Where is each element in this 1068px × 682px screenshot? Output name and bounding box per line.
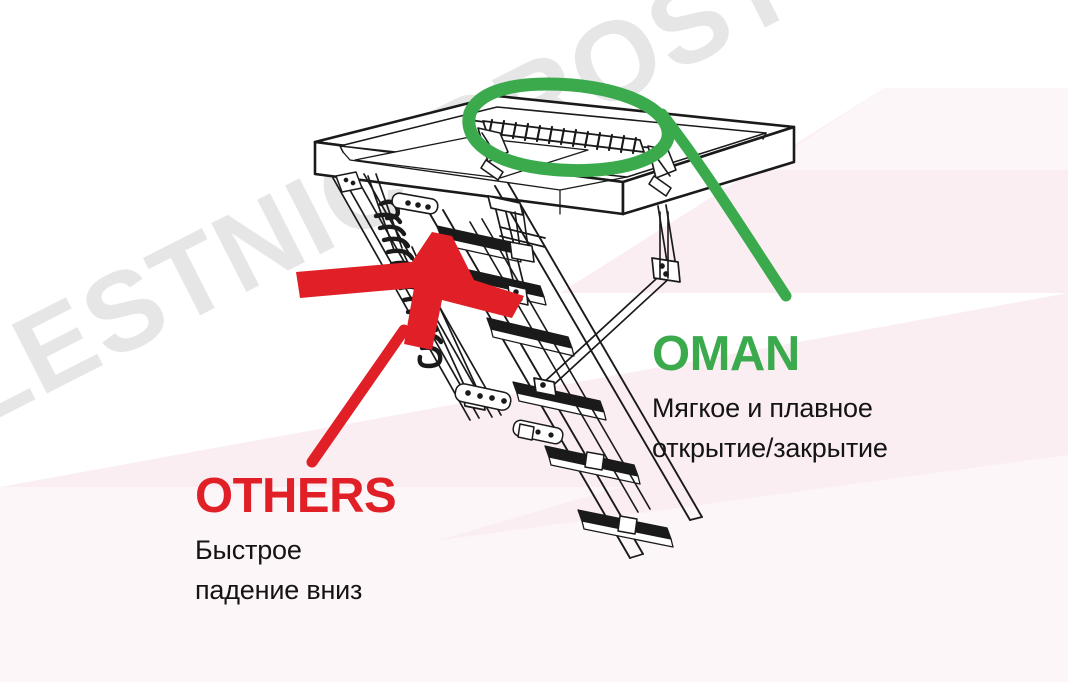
oman-subtitle-line-1: Мягкое и плавное — [652, 389, 1012, 429]
oman-title: OMAN — [652, 330, 1012, 379]
illustration-canvas: LESTNIC-PROSTO.RU — [0, 0, 1068, 682]
red-arrow-marker — [296, 232, 524, 462]
oman-subtitle-line-2: открытие/закрытие — [652, 429, 1012, 469]
others-subtitle-line-1: Быстрое — [195, 531, 525, 571]
lower-hinge-bracket-b — [618, 516, 637, 534]
ladder-step — [487, 318, 574, 356]
ladder-step — [513, 382, 606, 420]
callout-others: OTHERS Быстрое падение вниз — [195, 472, 525, 610]
others-subtitle-line-2: падение вниз — [195, 571, 525, 611]
lower-hinge-bracket-a — [585, 452, 604, 470]
others-title: OTHERS — [195, 472, 525, 521]
callout-oman: OMAN Мягкое и плавное открытие/закрытие — [652, 330, 1012, 468]
rail-latch-bracket — [518, 424, 534, 440]
